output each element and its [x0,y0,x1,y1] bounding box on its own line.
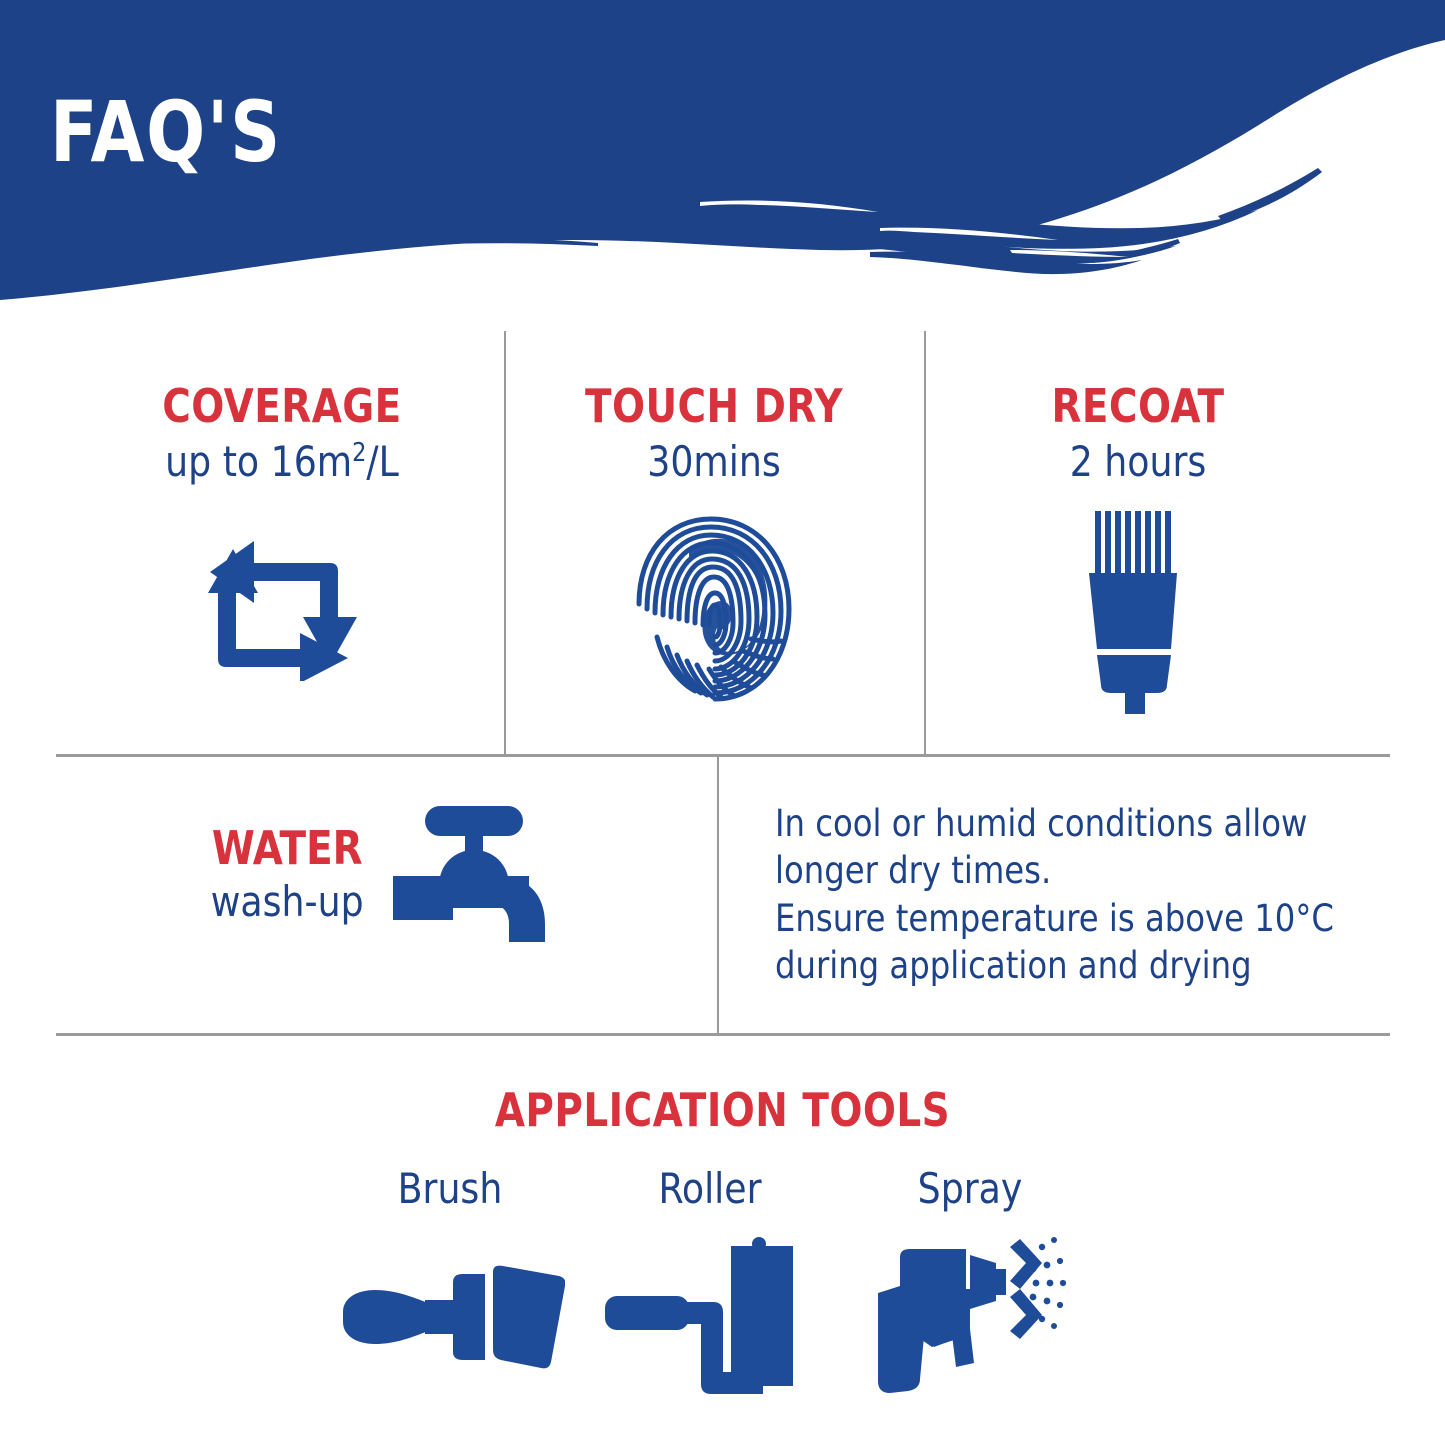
tool-brush: Brush [330,1168,570,1396]
water-text-wrap: WATER wash-up [207,824,367,927]
application-tools-row: Brush Roller [330,1168,1090,1396]
tap-faucet-icon [393,800,553,950]
touch-dry-value: 30mins [520,438,908,486]
spec-cell-water: WATER wash-up [60,800,700,950]
touch-dry-icon-wrap [512,509,916,709]
fingerprint-icon [629,509,799,709]
note-line-2: longer dry times. [775,847,1367,894]
tool-brush-icon-wrap [330,1236,570,1396]
divider-vertical-2 [924,331,926,755]
page-title: FAQ'S [50,90,282,174]
note-line-3: Ensure temperature is above 10°C [775,895,1367,942]
coverage-icon-wrap [62,509,502,681]
tool-roller-icon-wrap [590,1236,830,1396]
tool-spray: Spray [850,1168,1090,1396]
recoat-title: RECOAT [944,382,1331,430]
spec-cell-touch-dry: TOUCH DRY 30mins [512,382,916,709]
application-tools-title: APPLICATION TOOLS [43,1083,1401,1137]
recoat-icon-wrap [932,509,1344,714]
divider-vertical-1 [504,331,506,755]
tool-spray-label: Spray [855,1168,1085,1210]
coverage-title: COVERAGE [75,382,489,430]
conditions-note: In cool or humid conditions allow longer… [775,800,1367,989]
note-line-4: during application and drying [775,942,1367,989]
tool-roller: Roller [590,1168,830,1396]
tool-roller-label: Roller [595,1168,825,1210]
note-line-1: In cool or humid conditions allow [775,800,1367,847]
coverage-value-superscript: 2 [352,438,366,468]
coverage-value-suffix: /L [366,437,398,486]
coverage-value: up to 16m2/L [71,438,493,486]
coverage-value-prefix: up to 16m [165,437,352,486]
spray-gun-icon [870,1229,1070,1404]
divider-horizontal-2 [56,1033,1390,1036]
spec-cell-coverage: COVERAGE up to 16m2/L [62,382,502,681]
paint-brush-horizontal-icon [335,1256,565,1376]
water-title: WATER [212,824,363,872]
divider-horizontal-1 [56,754,1390,757]
recycle-loop-arrows-icon [202,509,362,681]
touch-dry-title: TOUCH DRY [524,382,904,430]
tool-brush-label: Brush [335,1168,565,1210]
tool-spray-icon-wrap [850,1236,1090,1396]
faq-infographic-page: FAQ'S COVERAGE up to 16m2/L [0,0,1445,1445]
water-value: wash-up [210,878,364,926]
paint-roller-icon [603,1232,818,1400]
divider-vertical-3 [717,756,719,1034]
spec-cell-recoat: RECOAT 2 hours [932,382,1344,714]
paintbrush-upright-icon [1083,509,1193,714]
recoat-value: 2 hours [940,438,1336,486]
